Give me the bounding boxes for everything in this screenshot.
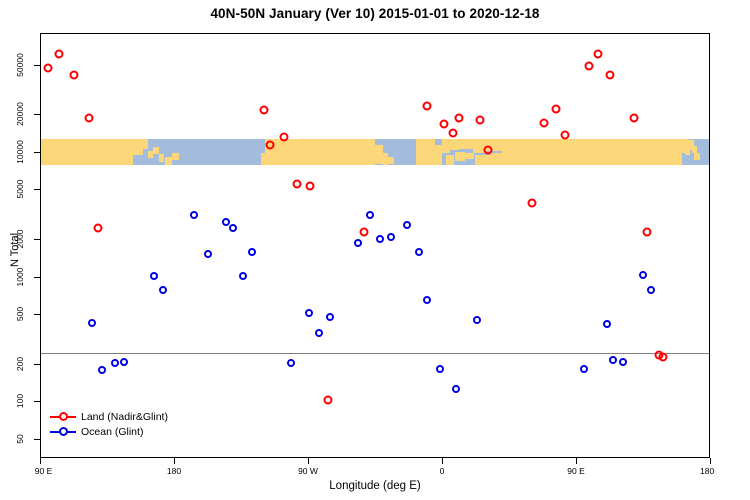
legend-item-land[interactable]: Land (Nadir&Glint) [50, 409, 168, 424]
data-point-ocean [150, 272, 158, 280]
data-point-land [449, 128, 458, 137]
land-region [450, 139, 459, 150]
x-tick-label: 90 E [567, 466, 585, 476]
land-region [366, 147, 373, 155]
land-region [442, 139, 450, 153]
data-point-ocean [423, 296, 431, 304]
data-point-ocean [387, 233, 395, 241]
data-point-ocean [603, 320, 611, 328]
data-point-land [552, 105, 561, 114]
data-point-ocean [229, 224, 237, 232]
data-point-ocean [366, 211, 374, 219]
data-point-ocean [452, 385, 460, 393]
land-region [165, 157, 172, 165]
data-point-ocean [204, 250, 212, 258]
x-tick-label: 180 [700, 466, 714, 476]
data-point-land [440, 120, 449, 129]
y-tick-label: 100 [15, 394, 25, 408]
x-tick-label: 90 W [298, 466, 318, 476]
data-point-land [659, 353, 668, 362]
x-axis-title: Longitude (deg E) [0, 480, 750, 492]
land-region [143, 139, 148, 150]
y-tick-label: 10000 [15, 140, 25, 164]
x-tick-label: 180 [167, 466, 181, 476]
land-region [692, 146, 697, 153]
x-tick-label: 90 E [35, 466, 53, 476]
x-tick-mark [442, 458, 443, 464]
data-point-land [266, 141, 275, 150]
data-point-land [455, 114, 464, 123]
data-point-ocean [190, 211, 198, 219]
x-tick-mark [174, 458, 175, 464]
plot-area [40, 33, 710, 458]
x-tick-mark [576, 458, 577, 464]
land-region [446, 155, 454, 165]
data-point-ocean [415, 248, 423, 256]
data-point-land [476, 115, 485, 124]
data-point-ocean [619, 358, 627, 366]
y-tick-label: 2000 [15, 230, 25, 249]
data-point-ocean [88, 319, 96, 327]
y-tick-label: 50 [15, 434, 25, 443]
data-point-ocean [473, 316, 481, 324]
data-point-ocean [305, 309, 313, 317]
land-region [375, 145, 383, 163]
data-point-land [360, 228, 369, 237]
land-region [41, 139, 133, 165]
land-region [388, 157, 393, 164]
data-point-ocean [647, 286, 655, 294]
data-point-ocean [239, 272, 247, 280]
data-point-ocean [98, 366, 106, 374]
chart-root: 40N-50N January (Ver 10) 2015-01-01 to 2… [0, 0, 750, 500]
data-point-ocean [326, 313, 334, 321]
data-point-land [605, 71, 614, 80]
y-tick-label: 200 [15, 357, 25, 371]
x-tick-mark [40, 458, 41, 464]
y-tick-label: 500 [15, 307, 25, 321]
land-region [685, 149, 690, 155]
y-tick-label: 20000 [15, 103, 25, 127]
data-point-land [306, 182, 315, 191]
data-point-land [93, 223, 102, 232]
data-point-ocean [287, 359, 295, 367]
data-point-land [293, 180, 302, 189]
data-point-ocean [120, 358, 128, 366]
chart-legend: Land (Nadir&Glint) Ocean (Glint) [50, 409, 168, 439]
land-region [519, 139, 682, 165]
data-point-land [44, 64, 53, 73]
data-point-ocean [436, 365, 444, 373]
data-point-ocean [111, 359, 119, 367]
legend-item-ocean[interactable]: Ocean (Glint) [50, 424, 168, 439]
land-region [343, 139, 355, 147]
land-region [694, 153, 699, 160]
land-region [416, 139, 435, 165]
y-tick-label: 50000 [15, 53, 25, 77]
land-region [455, 152, 464, 161]
data-point-land [528, 198, 537, 207]
data-point-ocean [248, 248, 256, 256]
legend-label-land: Land (Nadir&Glint) [81, 411, 168, 423]
x-tick-label: 0 [440, 466, 445, 476]
data-point-land [54, 50, 63, 59]
legend-label-ocean: Ocean (Glint) [81, 426, 143, 438]
data-point-land [584, 61, 593, 70]
land-region [459, 139, 472, 149]
y-tick-label: 5000 [15, 180, 25, 199]
data-point-land [84, 114, 93, 123]
data-point-ocean [159, 286, 167, 294]
data-point-land [422, 101, 431, 110]
data-point-ocean [639, 271, 647, 279]
land-region [172, 153, 179, 160]
data-point-land [642, 228, 651, 237]
reference-line [41, 353, 709, 354]
data-point-land [561, 130, 570, 139]
land-ocean-map-band [41, 139, 709, 165]
land-region [159, 154, 164, 162]
data-point-land [279, 132, 288, 141]
data-point-ocean [354, 239, 362, 247]
land-region [435, 145, 442, 165]
data-point-land [593, 50, 602, 59]
data-point-ocean [403, 221, 411, 229]
land-region [355, 141, 366, 149]
data-point-land [324, 396, 333, 405]
chart-title: 40N-50N January (Ver 10) 2015-01-01 to 2… [0, 6, 750, 21]
data-point-land [69, 71, 78, 80]
data-point-land [483, 146, 492, 155]
data-point-ocean [376, 235, 384, 243]
data-point-land [629, 114, 638, 123]
data-point-ocean [222, 218, 230, 226]
y-tick-label: 1000 [15, 267, 25, 286]
x-tick-mark [308, 458, 309, 464]
x-tick-mark [710, 458, 711, 464]
land-region [465, 153, 474, 159]
land-region [153, 147, 158, 154]
data-point-land [260, 106, 269, 115]
land-region [133, 139, 142, 155]
land-region [490, 153, 509, 165]
data-point-ocean [315, 329, 323, 337]
data-point-ocean [580, 365, 588, 373]
data-point-land [540, 118, 549, 127]
legend-symbol-ocean [50, 426, 76, 437]
data-point-ocean [609, 356, 617, 364]
legend-symbol-land [50, 411, 76, 422]
land-region [475, 155, 490, 165]
